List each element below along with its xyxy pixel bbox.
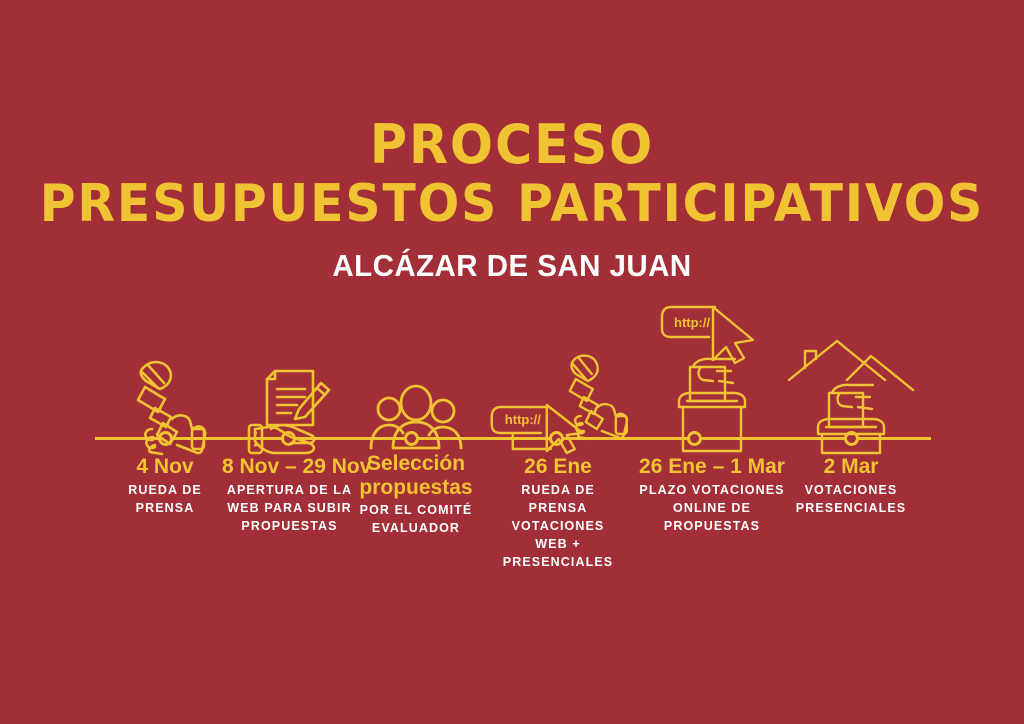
timeline-step-1: 4 Nov RUEDA DE PRENSA: [100, 455, 230, 517]
hand-document-pencil-icon: [245, 363, 335, 455]
poster-title-line2: PRESUPUESTOS PARTICIPATIVOS: [31, 178, 994, 230]
timeline-step-1-description: RUEDA DE PRENSA: [100, 481, 230, 517]
house-ballot-box-icon: [785, 335, 917, 455]
infographic-poster: PROCESO PRESUPUESTOS PARTICIPATIVOS ALCÁ…: [0, 0, 1024, 724]
svg-text:http://: http://: [674, 315, 710, 330]
timeline-step-3-description: POR EL COMITÉ EVALUADOR: [352, 501, 480, 537]
svg-text:http://: http://: [505, 412, 541, 427]
timeline-step-2-date: 8 Nov – 29 Nov: [222, 455, 357, 479]
timeline-step-1-icon-area: [100, 315, 230, 455]
timeline-step-3-date: Selección propuestas: [352, 452, 480, 499]
timeline-step-5-description: PLAZO VOTACIONES ONLINE DE PROPUESTAS: [634, 481, 790, 535]
people-group-icon: [368, 382, 464, 452]
poster-header: PROCESO PRESUPUESTOS PARTICIPATIVOS ALCÁ…: [0, 118, 1024, 284]
timeline-step-2: 8 Nov – 29 Nov APERTURA DE LA WEB PARA S…: [222, 455, 357, 535]
timeline-step-5-icon-area: http://: [634, 303, 790, 455]
timeline-step-4-description: RUEDA DE PRENSA VOTACIONES WEB + PRESENC…: [494, 481, 622, 572]
url-cursor-microphone-icon: http://: [491, 355, 631, 455]
timeline-step-2-icon-area: [222, 315, 357, 455]
timeline-step-1-date: 4 Nov: [100, 455, 230, 479]
poster-title-line1: PROCESO: [31, 118, 994, 172]
timeline-step-3-icon-area: [352, 312, 480, 452]
timeline-step-2-description: APERTURA DE LA WEB PARA SUBIR PROPUESTAS: [222, 481, 357, 535]
timeline-step-6-description: VOTACIONES PRESENCIALES: [790, 481, 912, 517]
online-ballot-box-icon: http://: [657, 305, 767, 455]
timeline-step-5-date: 26 Ene – 1 Mar: [634, 455, 790, 479]
hand-microphone-icon: [122, 359, 208, 455]
timeline-step-6: 2 Mar VOTACIONES PRESENCIALES: [790, 455, 912, 517]
timeline-step-5: http:// 26 Ene – 1 Ma: [634, 455, 790, 535]
timeline-step-4: http://: [494, 455, 622, 571]
timeline-step-3: Selección propuestas POR EL COMITÉ EVALU…: [352, 452, 480, 537]
timeline-step-4-date: 26 Ene: [494, 455, 622, 479]
timeline-step-6-date: 2 Mar: [790, 455, 912, 479]
timeline-step-6-icon-area: [790, 331, 912, 455]
poster-subtitle: ALCÁZAR DE SAN JUAN: [26, 248, 999, 284]
timeline-step-4-icon-area: http://: [494, 315, 622, 455]
